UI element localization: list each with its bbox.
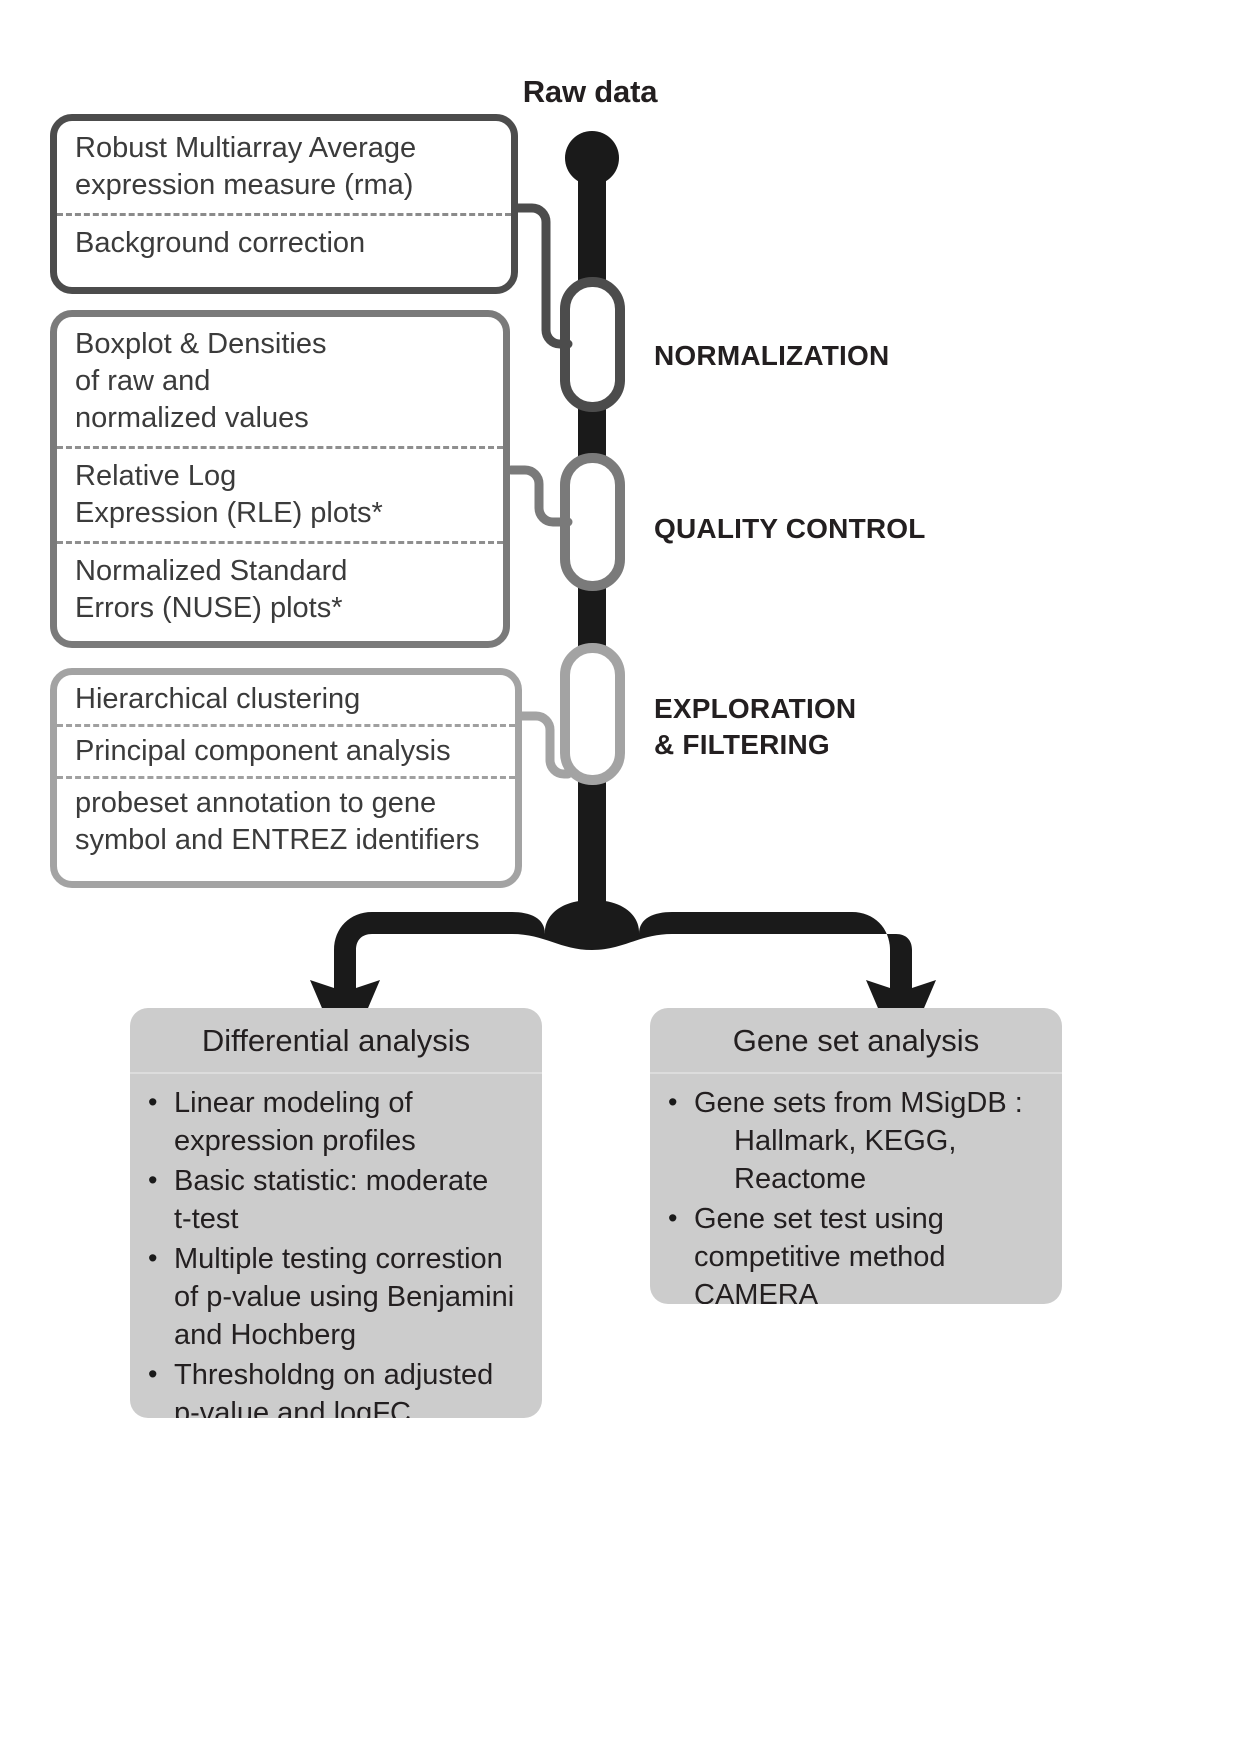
stage-step-rle-plots: Relative Log Expression (RLE) plots* [57, 446, 503, 541]
output-title: Differential analysis [130, 1008, 542, 1074]
stage-step-probeset-annotation: probeset annotation to gene symbol and E… [57, 776, 515, 865]
stage-step-pca: Principal component analysis [57, 724, 515, 776]
item-line: Thresholdng on adjusted [174, 1359, 493, 1391]
list-item: Thresholdng on adjusted p-value and logF… [144, 1356, 528, 1418]
output-item-list: Gene sets from MSigDB : Hallmark, KEGG, … [650, 1074, 1062, 1304]
stage-step-boxplot-densities: Boxplot & Densities of raw and normalize… [57, 317, 503, 446]
stage-step-line: Background correction [75, 227, 365, 259]
stage-step-line: probeset annotation to gene [75, 787, 436, 819]
list-item: Linear modeling of expression profiles [144, 1084, 528, 1160]
item-line: Gene set test using [694, 1203, 944, 1235]
item-line: expression profiles [174, 1122, 528, 1160]
list-item: Gene set test using competitive method C… [664, 1200, 1048, 1304]
item-line: Reactome [694, 1160, 1048, 1198]
item-line: t-test [174, 1200, 528, 1238]
item-line: competitive method [694, 1238, 1048, 1276]
item-line: Multiple testing correstion [174, 1243, 503, 1275]
stage-step-line: Normalized Standard [75, 555, 347, 587]
stage-label-quality-control: QUALITY CONTROL [654, 511, 926, 547]
stage-step-line: Robust Multiarray Average [75, 132, 416, 164]
stage-step-line: expression measure (rma) [75, 169, 413, 201]
item-line: CAMERA [694, 1276, 1048, 1304]
item-line: of p-value using Benjamini [174, 1278, 528, 1316]
output-title: Gene set analysis [650, 1008, 1062, 1074]
stage-node-normalization[interactable] [565, 282, 620, 407]
item-line: and Hochberg [174, 1316, 528, 1354]
item-line: p-value and logFC [174, 1394, 528, 1418]
stage-step-line: Errors (NUSE) plots* [75, 592, 343, 624]
output-item-list: Linear modeling of expression profiles B… [130, 1074, 542, 1418]
stage-step-hierarchical-clustering: Hierarchical clustering [57, 675, 515, 724]
item-line: Hallmark, KEGG, [694, 1122, 1048, 1160]
stage-step-line: normalized values [75, 402, 309, 434]
stage-step-line: Boxplot & Densities [75, 328, 326, 360]
stage-label-line: & FILTERING [654, 729, 830, 760]
item-line: Basic statistic: moderate [174, 1165, 488, 1197]
stage-label-exploration-filtering: EXPLORATION & FILTERING [654, 691, 856, 763]
stage-step-line: symbol and ENTREZ identifiers [75, 824, 480, 856]
stage-step-rma: Robust Multiarray Average expression mea… [57, 121, 511, 213]
list-item: Multiple testing correstion of p-value u… [144, 1240, 528, 1354]
stage-step-line: Principal component analysis [75, 735, 451, 767]
stage-step-line: Expression (RLE) plots* [75, 497, 383, 529]
stage-step-background-correction: Background correction [57, 213, 511, 271]
item-line: Gene sets from MSigDB : [694, 1087, 1023, 1119]
item-line: Linear modeling of [174, 1087, 413, 1119]
output-box-differential-analysis[interactable]: Differential analysis Linear modeling of… [130, 1008, 542, 1418]
stage-card-normalization[interactable]: Robust Multiarray Average expression mea… [50, 114, 518, 294]
stage-node-quality-control[interactable] [565, 458, 620, 586]
list-item: Gene sets from MSigDB : Hallmark, KEGG, … [664, 1084, 1048, 1198]
output-box-gene-set-analysis[interactable]: Gene set analysis Gene sets from MSigDB … [650, 1008, 1062, 1304]
stage-step-line: Hierarchical clustering [75, 683, 360, 715]
raw-data-title: Raw data [440, 74, 740, 110]
stage-node-exploration-filtering[interactable] [565, 648, 620, 780]
stage-label-normalization: NORMALIZATION [654, 338, 889, 374]
stage-step-line: Relative Log [75, 460, 236, 492]
connector-quality-control [511, 470, 568, 522]
stage-label-line: EXPLORATION [654, 693, 856, 724]
workflow-diagram: Raw data Robust Multiarray Average expre… [0, 0, 1240, 1753]
stage-card-quality-control[interactable]: Boxplot & Densities of raw and normalize… [50, 310, 510, 648]
stage-card-exploration-filtering[interactable]: Hierarchical clustering Principal compon… [50, 668, 522, 888]
stage-step-nuse-plots: Normalized Standard Errors (NUSE) plots* [57, 541, 503, 636]
stage-step-line: of raw and [75, 365, 210, 397]
list-item: Basic statistic: moderate t-test [144, 1162, 528, 1238]
